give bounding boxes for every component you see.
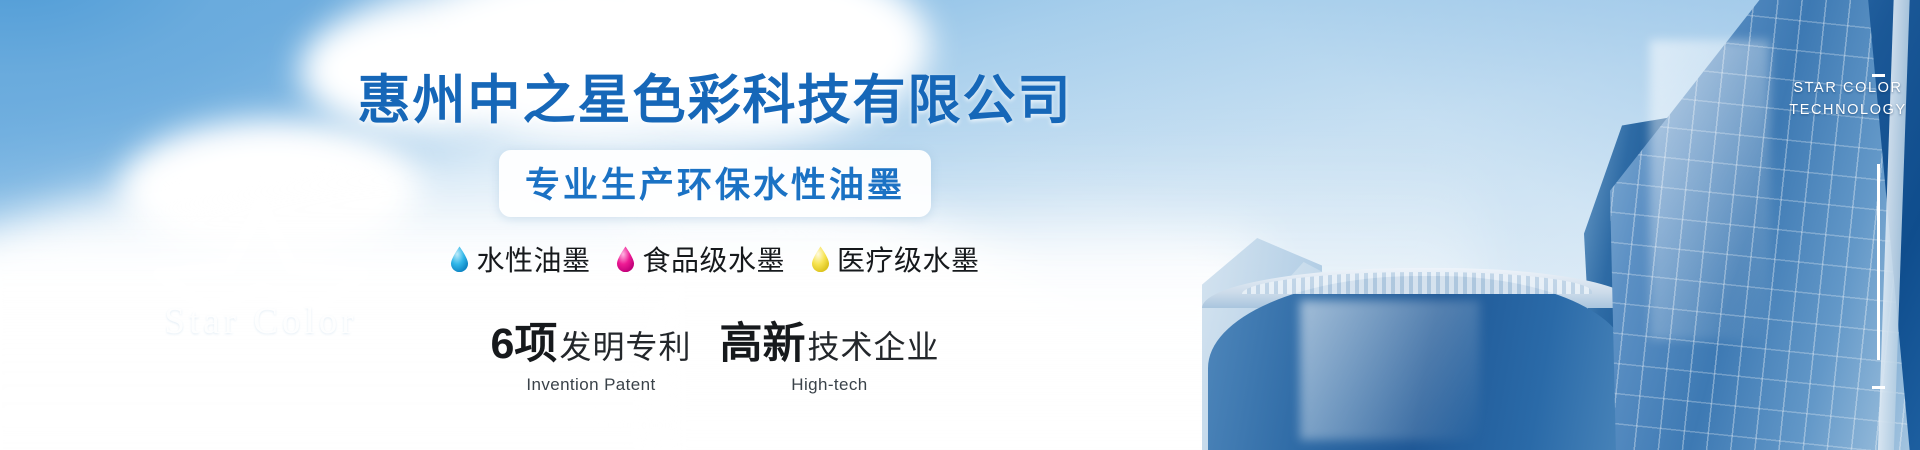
feature-list: 水性油墨 食品级水墨 [450, 239, 979, 279]
accent-tick-top [1872, 74, 1885, 77]
feature-label: 医疗级水墨 [837, 239, 980, 279]
badge-rest-text: 发明专利 [559, 322, 691, 368]
badge-high-tech: 高新 技术企业 High-tech [719, 309, 939, 395]
badge-strong-text: 6项 [491, 309, 558, 371]
water-drop-icon [450, 246, 469, 272]
banner-content: 惠州中之星色彩科技有限公司 专业生产环保水性油墨 水性油墨 [330, 0, 1100, 450]
badge-english-text: High-tech [719, 375, 939, 395]
badge-english-text: Invention Patent [491, 375, 692, 395]
badge-invention-patent: 6项 发明专利 Invention Patent [491, 309, 692, 395]
logo-line-1: STAR COLOR [1768, 78, 1920, 100]
subtitle-text: 专业生产环保水性油墨 [525, 157, 905, 208]
company-title: 惠州中之星色彩科技有限公司 [358, 58, 1073, 134]
logo-line-2: TECHNOLOGY [1768, 100, 1920, 122]
water-drop-icon [616, 246, 635, 272]
accent-vertical-bar [1877, 164, 1880, 360]
logo-text-block: STAR COLOR TECHNOLOGY [1768, 78, 1920, 122]
skyscraper-photo [1180, 0, 1920, 450]
accent-tick-bottom [1872, 386, 1885, 389]
feature-label: 水性油墨 [476, 239, 590, 279]
badge-rest-text: 技术企业 [807, 322, 939, 368]
subtitle-pill: 专业生产环保水性油墨 [499, 150, 931, 217]
feature-item: 医疗级水墨 [811, 239, 980, 279]
feature-item: 食品级水墨 [616, 239, 785, 279]
feature-item: 水性油墨 [450, 239, 590, 279]
building-curved-front [1208, 276, 1628, 450]
credential-badges: 6项 发明专利 Invention Patent 高新 技术企业 High-te… [491, 309, 940, 395]
water-drop-icon [811, 246, 830, 272]
feature-label: 食品级水墨 [642, 239, 785, 279]
badge-strong-text: 高新 [719, 309, 805, 371]
hero-banner: Star Color STAR COLOR TECHNOLOGY 惠州中之星色彩… [0, 0, 1920, 450]
building-front-mullions [1610, 0, 1910, 450]
